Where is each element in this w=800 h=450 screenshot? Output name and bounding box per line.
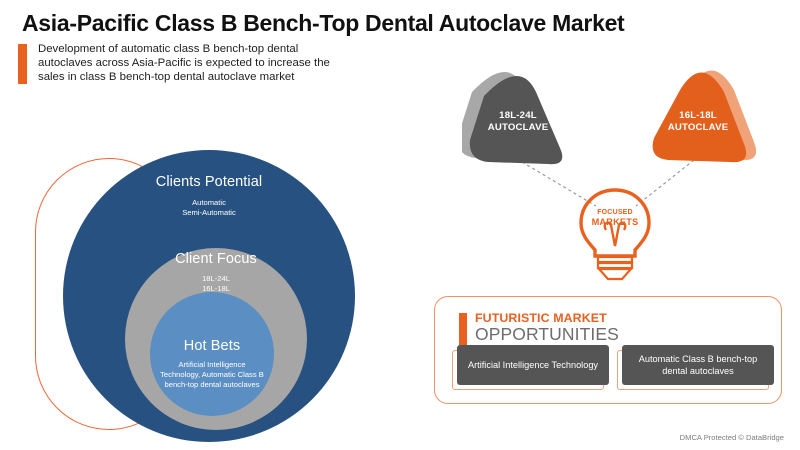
accent-bar <box>18 44 27 84</box>
arrow-label-18l-24l: 18L-24L AUTOCLAVE <box>462 110 574 134</box>
subtitle-block: Development of automatic class B bench-t… <box>18 42 348 85</box>
panel-title-line2: OPPORTUNITIES <box>475 325 619 344</box>
circle-hot-bets: Hot Bets Artificial Intelligence Technol… <box>150 292 274 416</box>
footer-attribution: DMCA Protected © DataBridge <box>680 433 784 442</box>
lightbulb: FOCUSED MARKETS <box>572 186 658 282</box>
arrow-18l-24l: 18L-24L AUTOCLAVE <box>462 66 574 170</box>
subtitle-text: Development of automatic class B bench-t… <box>38 42 348 85</box>
panel-title-line1: FUTURISTIC MARKET <box>475 311 619 325</box>
arrow-label-16l-18l: 16L-18L AUTOCLAVE <box>640 110 756 134</box>
lightbulb-icon <box>572 186 658 282</box>
circle-heading-client-focus: Client Focus <box>125 251 307 267</box>
opportunity-box-automatic-autoclaves[interactable]: Automatic Class B bench-top dental autoc… <box>622 345 774 385</box>
lightbulb-line2: MARKETS <box>572 218 658 228</box>
circle-items-clients-potential: Automatic Semi-Automatic <box>63 198 355 218</box>
circle-heading-clients-potential: Clients Potential <box>63 174 355 190</box>
opportunity-box-ai-technology[interactable]: Artificial Intelligence Technology <box>457 345 609 385</box>
arrow-16l-18l: 16L-18L AUTOCLAVE <box>640 62 756 172</box>
circle-heading-hot-bets: Hot Bets <box>150 338 274 354</box>
infographic-canvas: Asia-Pacific Class B Bench-Top Dental Au… <box>0 0 800 450</box>
lightbulb-text: FOCUSED MARKETS <box>572 208 658 227</box>
page-title: Asia-Pacific Class B Bench-Top Dental Au… <box>22 10 624 37</box>
panel-accent-bar <box>459 313 467 347</box>
circle-items-hot-bets: Artificial Intelligence Technology, Auto… <box>150 360 274 391</box>
panel-heading: FUTURISTIC MARKET OPPORTUNITIES <box>459 311 619 344</box>
